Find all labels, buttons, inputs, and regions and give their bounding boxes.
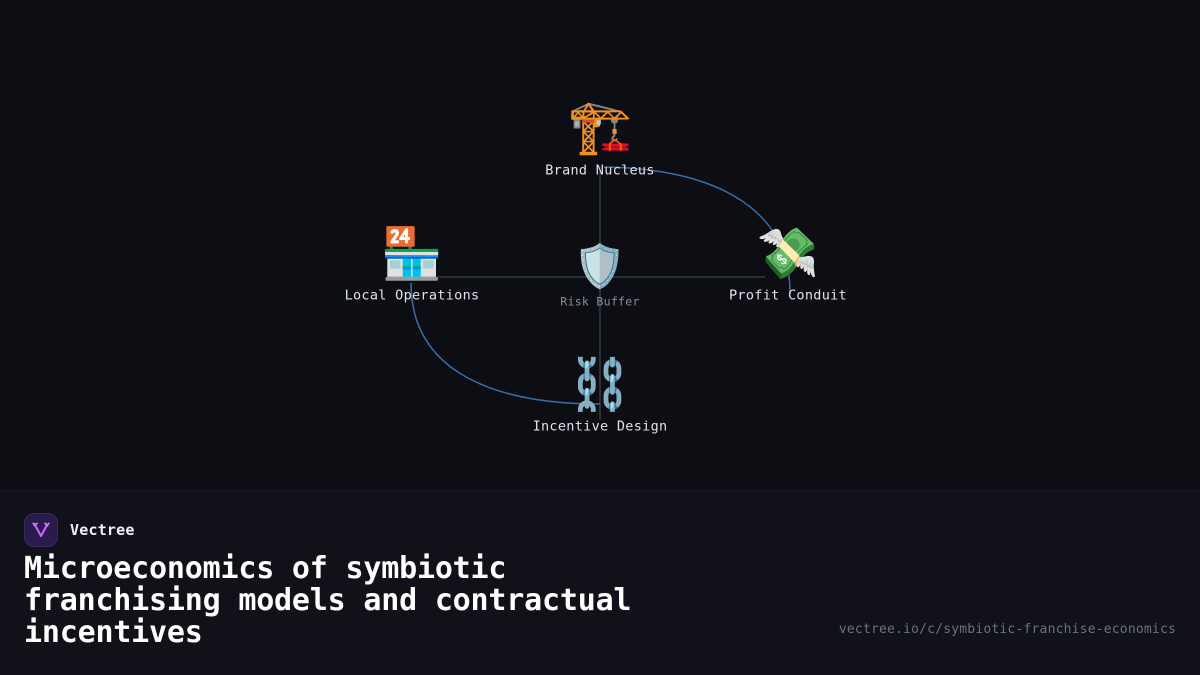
chains-icon: ⛓️ <box>569 360 631 410</box>
graph-node-incentive-design[interactable]: ⛓️ Incentive Design <box>495 360 705 435</box>
shield-icon: 🛡️ <box>574 246 626 288</box>
vectree-logo-glyph <box>31 520 51 540</box>
graph-node-label: Incentive Design <box>533 419 668 435</box>
graph-node-label: Local Operations <box>345 288 480 304</box>
footer-panel: Vectree Microeconomics of symbiotic fran… <box>0 490 1200 675</box>
construction-crane-icon: 🏗️ <box>568 102 633 154</box>
brand-name: Vectree <box>70 521 135 539</box>
convenience-store-icon: 🏪 <box>381 229 443 279</box>
graph-canvas[interactable]: 🏗️ Brand Nucleus 🏪 Local Operations 🛡️ R… <box>0 0 1200 490</box>
page-url: vectree.io/c/symbiotic-franchise-economi… <box>839 622 1176 637</box>
graph-node-profit-conduit[interactable]: 💸 Profit Conduit <box>683 229 893 304</box>
vectree-logo-icon <box>24 513 58 547</box>
graph-node-brand-nucleus[interactable]: 🏗️ Brand Nucleus <box>495 102 705 179</box>
page-title: Microeconomics of symbiotic franchising … <box>24 553 854 648</box>
graph-node-local-operations[interactable]: 🏪 Local Operations <box>307 229 517 304</box>
money-with-wings-icon: 💸 <box>757 229 819 279</box>
vectree-concept-graph-page: 🏗️ Brand Nucleus 🏪 Local Operations 🛡️ R… <box>0 0 1200 675</box>
brand-row[interactable]: Vectree <box>24 513 135 547</box>
graph-node-label: Risk Buffer <box>560 295 639 309</box>
graph-node-label: Profit Conduit <box>729 288 847 304</box>
graph-node-label: Brand Nucleus <box>545 163 655 179</box>
graph-node-risk-buffer[interactable]: 🛡️ Risk Buffer <box>495 246 705 309</box>
